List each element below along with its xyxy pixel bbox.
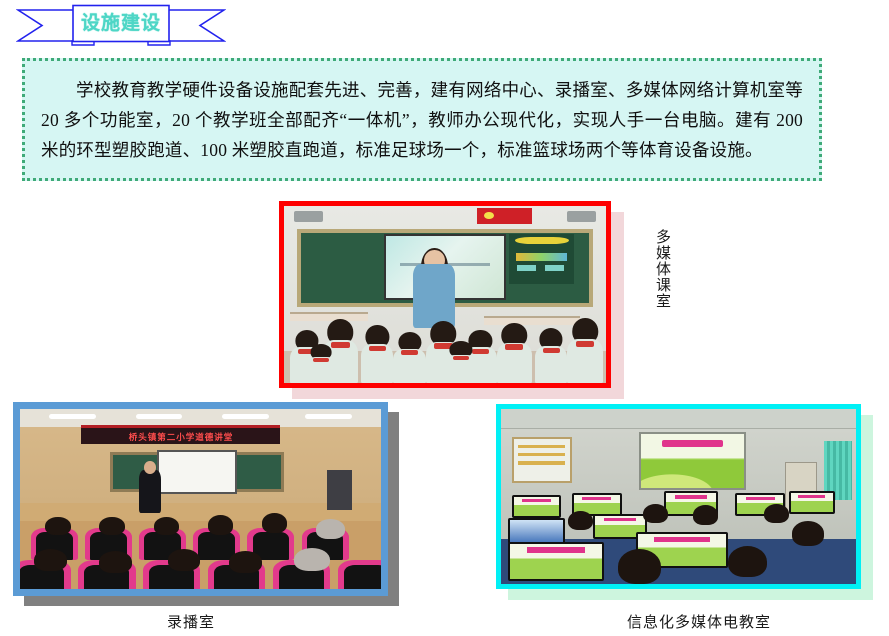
section-banner: 设施建设 — [16, 4, 226, 46]
photo-recording-studio: 桥头镇第二小学道德讲堂 — [13, 402, 388, 596]
banner-title: 设施建设 — [16, 4, 226, 46]
label-multimedia-classroom: 多媒体课室 — [651, 229, 672, 309]
class-poster — [509, 234, 573, 284]
hall-banner-text: 桥头镇第二小学道德讲堂 — [128, 430, 233, 442]
national-flag-icon — [477, 208, 532, 224]
classroom-scene — [284, 206, 606, 383]
description-panel: 学校教育教学硬件设备设施配套先进、完善，建有网络中心、录播室、多媒体网络计算机室… — [22, 58, 822, 181]
caption-recording-studio: 录播室 — [167, 611, 215, 632]
photo-multimedia-classroom — [279, 201, 611, 388]
description-text: 学校教育教学硬件设备设施配套先进、完善，建有网络中心、录播室、多媒体网络计算机室… — [41, 75, 803, 165]
photo-informatized-av-room — [496, 404, 861, 589]
hall-led-banner: 桥头镇第二小学道德讲堂 — [81, 425, 280, 444]
computer-lab-scene — [501, 409, 856, 584]
lecture-hall-scene: 桥头镇第二小学道德讲堂 — [20, 409, 381, 589]
projection-screen — [639, 432, 746, 490]
caption-informatized-av-room: 信息化多媒体电教室 — [627, 611, 771, 632]
